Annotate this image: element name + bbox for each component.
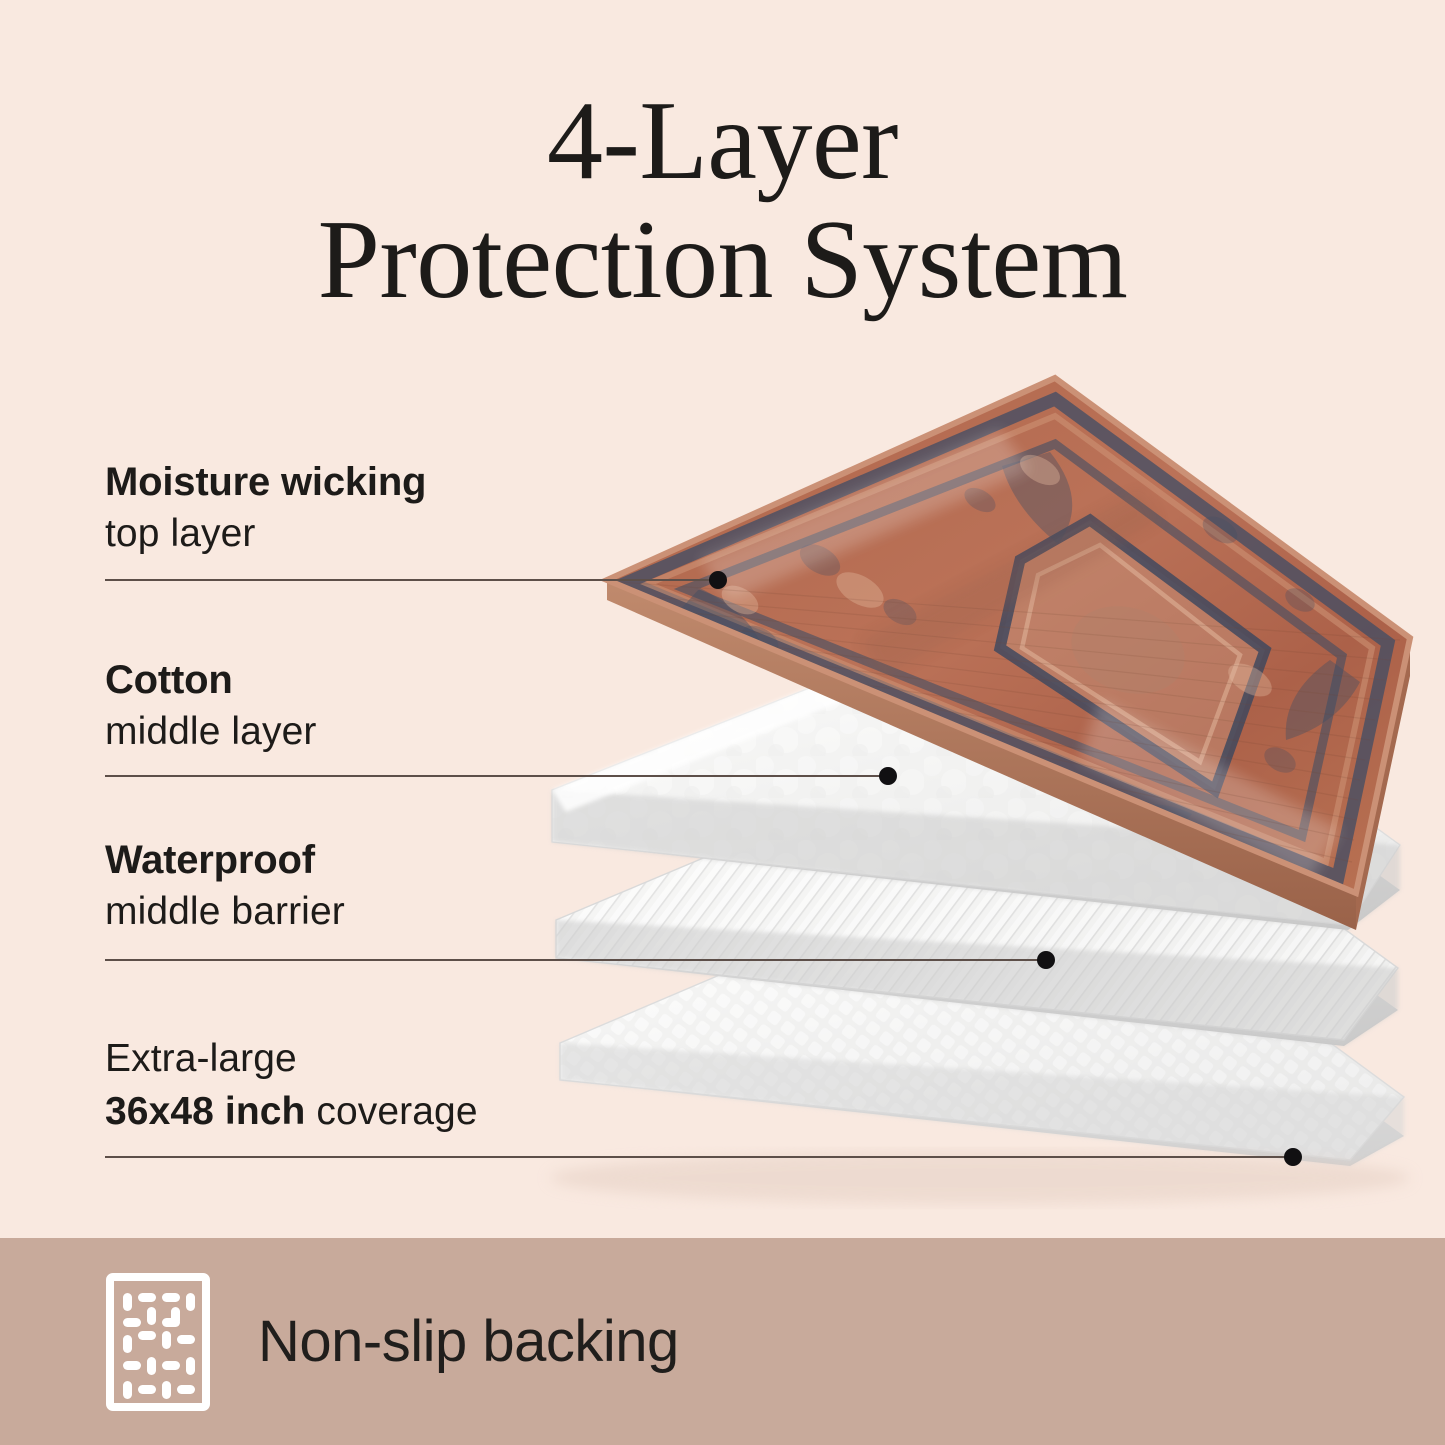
layer-shape-waterproof-layer — [556, 713, 1398, 1046]
label-size-coverage: Extra-large 36x48 inch coverage — [105, 1036, 478, 1136]
non-slip-backing-label: Non-slip backing — [258, 1308, 679, 1375]
title-line-1: 4-Layer — [0, 82, 1445, 201]
infographic-root: 4-Layer Protection System — [0, 0, 1445, 1445]
label-top-layer-sub: top layer — [105, 511, 426, 558]
page-title: 4-Layer Protection System — [0, 82, 1445, 319]
label-size-coverage-word: coverage — [305, 1090, 477, 1133]
label-size-dimensions: 36x48 inch — [105, 1090, 305, 1133]
non-slip-backing-bar: Non-slip backing — [0, 1238, 1445, 1445]
label-cotton-layer: Cotton middle layer — [105, 658, 316, 756]
label-size-sub: 36x48 inch coverage — [105, 1089, 478, 1136]
leader-top-layer — [105, 579, 718, 581]
layer-shape-size-layer — [560, 835, 1404, 1166]
label-waterproof-layer: Waterproof middle barrier — [105, 838, 345, 936]
leader-dot-waterproof — [1037, 951, 1055, 969]
leader-dot-cotton — [879, 767, 897, 785]
layer-shape-cotton-layer — [552, 592, 1400, 930]
leader-dot-size — [1284, 1148, 1302, 1166]
label-waterproof-heading: Waterproof — [105, 838, 345, 883]
leader-size-coverage — [105, 1156, 1293, 1158]
label-top-layer-heading: Moisture wicking — [105, 460, 426, 505]
label-top-layer: Moisture wicking top layer — [105, 460, 426, 558]
leader-dot-top-layer — [709, 571, 727, 589]
label-cotton-heading: Cotton — [105, 658, 316, 703]
title-line-2: Protection System — [0, 201, 1445, 320]
non-slip-weave-icon — [106, 1273, 210, 1411]
label-size-heading: Extra-large — [105, 1036, 478, 1083]
label-cotton-sub: middle layer — [105, 709, 316, 756]
leader-cotton-layer — [105, 775, 888, 777]
layer-shape-top-layer — [607, 378, 1410, 930]
label-waterproof-sub: middle barrier — [105, 889, 345, 936]
leader-waterproof-layer — [105, 959, 1046, 961]
